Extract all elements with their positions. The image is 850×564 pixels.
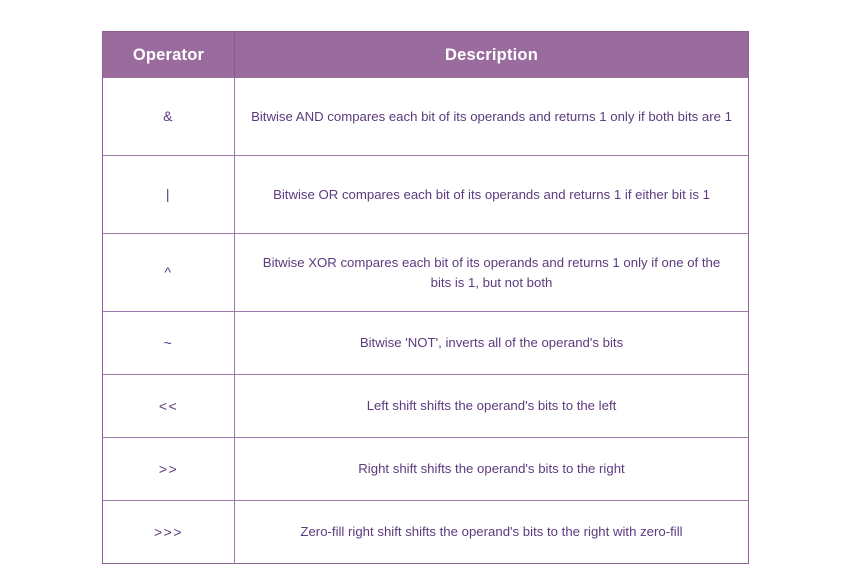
- table-row: ^ Bitwise XOR compares each bit of its o…: [103, 234, 749, 312]
- table-header-row: Operator Description: [103, 32, 749, 79]
- cell-description: Zero-fill right shift shifts the operand…: [235, 501, 749, 564]
- cell-description: Right shift shifts the operand's bits to…: [235, 438, 749, 501]
- table-row: << Left shift shifts the operand's bits …: [103, 375, 749, 438]
- table-row: >> Right shift shifts the operand's bits…: [103, 438, 749, 501]
- column-header-operator: Operator: [103, 32, 235, 79]
- table-row: | Bitwise OR compares each bit of its op…: [103, 156, 749, 234]
- cell-operator: ^: [103, 234, 235, 312]
- table-row: & Bitwise AND compares each bit of its o…: [103, 78, 749, 156]
- cell-description: Bitwise XOR compares each bit of its ope…: [235, 234, 749, 312]
- table-body: & Bitwise AND compares each bit of its o…: [103, 78, 749, 564]
- bitwise-operators-table: Operator Description & Bitwise AND compa…: [102, 31, 749, 564]
- cell-operator: <<: [103, 375, 235, 438]
- cell-operator: >>>: [103, 501, 235, 564]
- cell-operator: |: [103, 156, 235, 234]
- cell-description: Bitwise 'NOT', inverts all of the operan…: [235, 312, 749, 375]
- cell-description: Bitwise OR compares each bit of its oper…: [235, 156, 749, 234]
- cell-operator: ~: [103, 312, 235, 375]
- cell-operator: >>: [103, 438, 235, 501]
- cell-operator: &: [103, 78, 235, 156]
- table-row: >>> Zero-fill right shift shifts the ope…: [103, 501, 749, 564]
- table-header: Operator Description: [103, 32, 749, 79]
- cell-description: Left shift shifts the operand's bits to …: [235, 375, 749, 438]
- column-header-description: Description: [235, 32, 749, 79]
- cell-description: Bitwise AND compares each bit of its ope…: [235, 78, 749, 156]
- table-row: ~ Bitwise 'NOT', inverts all of the oper…: [103, 312, 749, 375]
- page-root: Operator Description & Bitwise AND compa…: [0, 0, 850, 450]
